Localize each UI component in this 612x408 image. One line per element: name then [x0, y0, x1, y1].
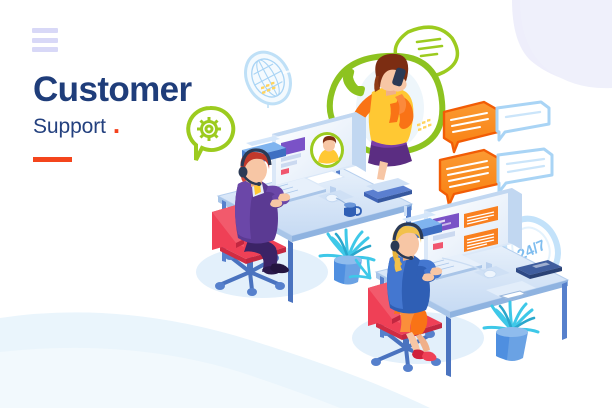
customer-support-illustration: 24/7 — [0, 0, 612, 408]
books-left — [364, 178, 412, 203]
chat-bubble-blue-2 — [498, 149, 552, 192]
chat-bubble-orange-1 — [444, 102, 498, 152]
gear-speech-bubble-icon — [188, 108, 233, 160]
chat-bubble-blue-1 — [497, 102, 549, 140]
landing-page-hero: Customer Support . — [0, 0, 612, 408]
globe-icon — [237, 44, 299, 111]
potted-plant-right — [484, 302, 538, 361]
